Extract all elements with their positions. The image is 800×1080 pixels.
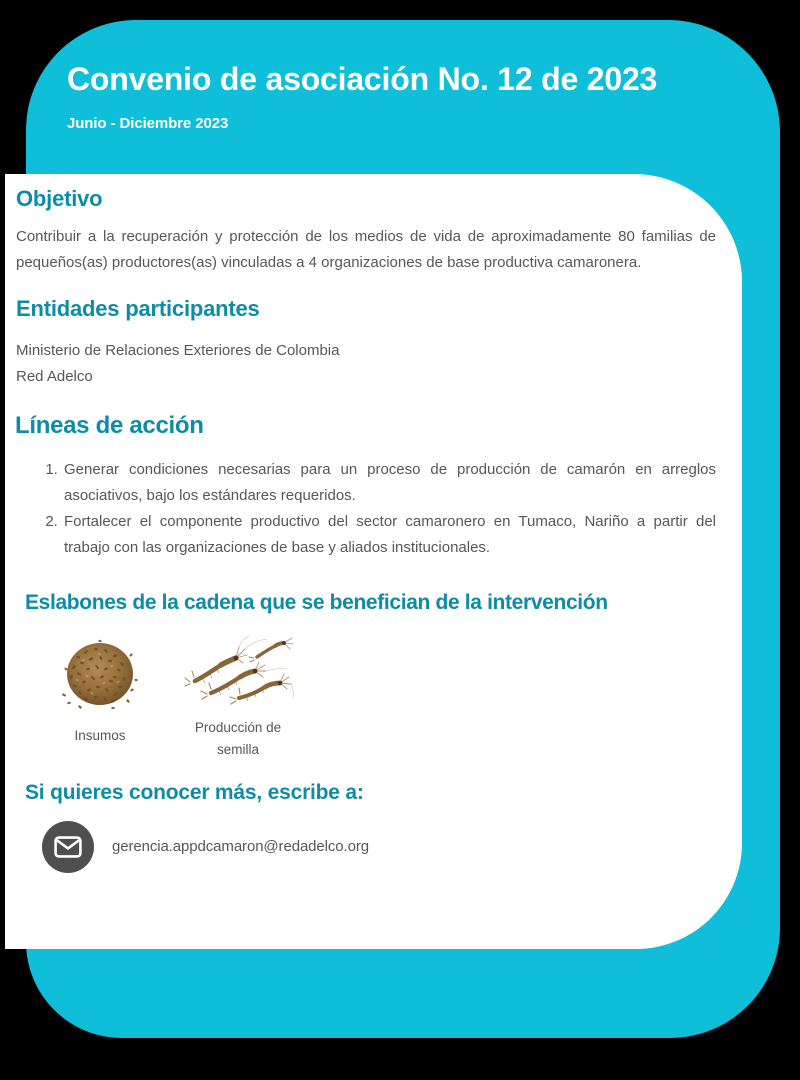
lineas-de-accion-list: Generar condiciones necesarias para un p… — [16, 457, 716, 561]
eslabones-row: Insumos — [16, 635, 716, 762]
eslabon-item-insumos: Insumos — [40, 635, 160, 747]
page-title: Convenio de asociación No. 12 de 2023 — [67, 62, 747, 98]
contact-email[interactable]: gerencia.appdcamaron@redadelco.org — [112, 838, 369, 855]
contact-row[interactable]: gerencia.appdcamaron@redadelco.org — [16, 821, 716, 873]
section-heading-contacto: Si quieres conocer más, escribe a: — [25, 780, 716, 805]
poster-header: Convenio de asociación No. 12 de 2023 Ju… — [67, 62, 747, 132]
entidad-item: Red Adelco — [16, 364, 716, 390]
list-item: Generar condiciones necesarias para un p… — [62, 457, 716, 509]
page-subtitle: Junio - Diciembre 2023 — [67, 98, 747, 132]
eslabon-label: Producción de semilla — [178, 715, 298, 762]
entidad-item: Ministerio de Relaciones Exteriores de C… — [16, 338, 716, 364]
section-heading-entidades: Entidades participantes — [16, 296, 716, 322]
section-heading-lineas-de-accion: Líneas de acción — [15, 412, 716, 441]
feed-pellets-photo — [52, 635, 148, 713]
envelope-icon[interactable] — [42, 821, 94, 873]
content-body: Objetivo Contribuir a la recuperación y … — [16, 186, 716, 873]
section-heading-eslabones: Eslabones de la cadena que se benefician… — [25, 590, 716, 615]
objetivo-paragraph: Contribuir a la recuperación y protecció… — [16, 224, 716, 276]
eslabon-label: Insumos — [74, 713, 125, 747]
eslabon-item-produccion-de-semilla: Producción de semilla — [178, 635, 298, 762]
shrimp-larvae-photo — [181, 635, 296, 715]
poster-canvas: Convenio de asociación No. 12 de 2023 Ju… — [0, 0, 800, 1080]
section-heading-objetivo: Objetivo — [16, 186, 716, 212]
list-item: Fortalecer el componente productivo del … — [62, 509, 716, 561]
